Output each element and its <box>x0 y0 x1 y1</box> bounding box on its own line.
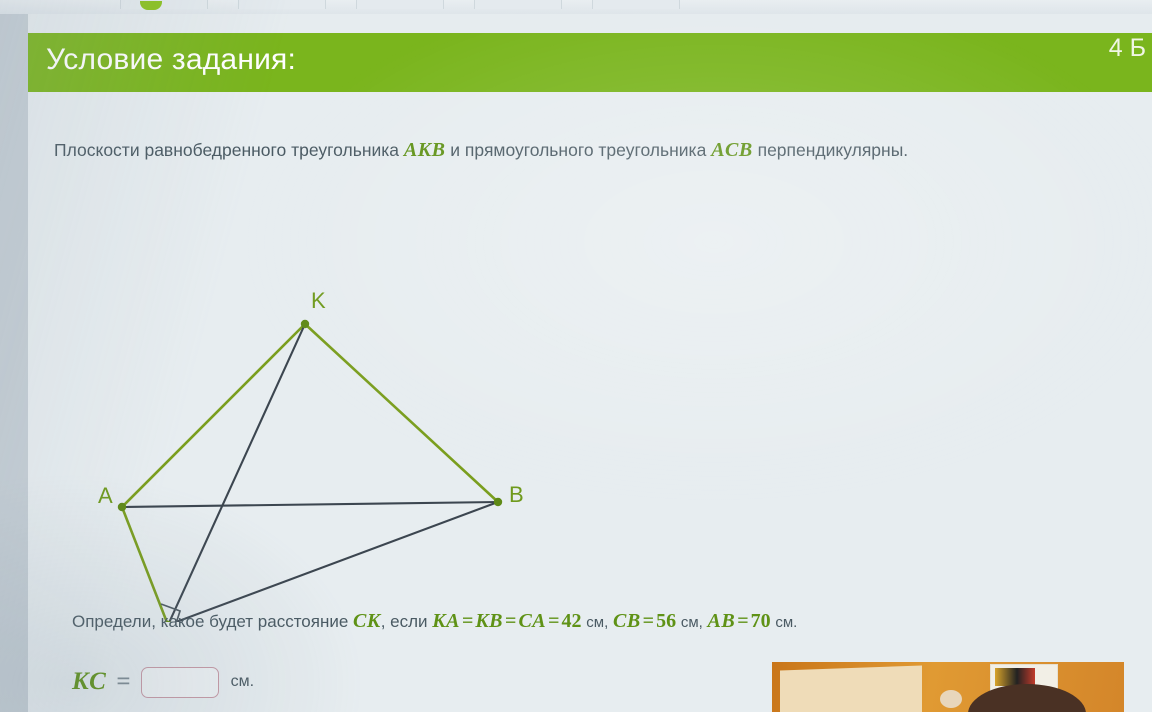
statement-text-part1: Плоскости равнобедренного треугольника <box>54 140 404 160</box>
browser-tab[interactable] <box>238 0 326 9</box>
value-42: 42 <box>562 610 582 632</box>
vertex-label-A: A <box>98 483 113 508</box>
equals-sign-3: = <box>546 610 561 632</box>
problem-statement: Плоскости равнобедренного треугольника A… <box>54 139 1144 162</box>
page-title: Условие задания: <box>46 43 296 77</box>
browser-tab[interactable] <box>474 0 562 9</box>
edge-K-B <box>305 324 498 502</box>
given-ka: KA <box>432 610 460 632</box>
vertex-B <box>494 498 502 506</box>
answer-input[interactable] <box>141 667 219 698</box>
question-part1: Определи, какое будет расстояние <box>72 612 353 631</box>
browser-tab[interactable] <box>356 0 444 9</box>
given-kb: KB <box>475 610 503 632</box>
unit-2: см, <box>681 614 703 631</box>
browser-tab[interactable] <box>592 0 680 9</box>
answer-equals-sign: = <box>106 668 140 696</box>
given-ab: AB <box>708 610 736 632</box>
value-56: 56 <box>656 610 676 632</box>
unit-3: см. <box>775 614 797 631</box>
photographed-screen: Условие задания: 4 Б Плоскости равнобедр… <box>0 0 1152 712</box>
statement-triangle-acb: ACB <box>711 139 753 161</box>
answer-row: KC = см. <box>72 662 254 702</box>
value-70: 70 <box>751 610 771 632</box>
edge-A-K <box>122 324 305 507</box>
given-cb: CB <box>613 610 641 632</box>
statement-text-part3: перпендикулярны. <box>753 140 908 160</box>
question-part2: , если <box>381 612 433 631</box>
equals-sign-5: = <box>735 610 750 632</box>
edge-C-B <box>168 502 498 622</box>
equals-sign-1: = <box>460 610 475 632</box>
unit-1: см, <box>586 614 608 631</box>
bottom-right-photo-panel[interactable] <box>772 662 1124 712</box>
task-banner: Условие задания: 4 Б <box>28 33 1152 92</box>
vertex-label-B: B <box>509 482 524 507</box>
page-left-margin <box>0 14 28 712</box>
vertex-K <box>301 320 309 328</box>
geometry-figure: K A B C <box>28 92 1152 622</box>
banner-corner-label: 4 Б <box>1109 34 1146 63</box>
equals-sign-2: = <box>503 610 518 632</box>
vertex-A <box>118 503 126 511</box>
vertex-label-K: K <box>311 288 326 313</box>
statement-text-part2: и прямоугольного треугольника <box>445 140 711 160</box>
browser-tab[interactable] <box>120 0 208 9</box>
statement-triangle-akb: AKB <box>404 139 446 161</box>
photo-paper-sheet <box>780 666 922 712</box>
answer-label-kc: KC <box>72 668 106 696</box>
exercise-body: Плоскости равнобедренного треугольника A… <box>28 92 1152 712</box>
given-ca: CA <box>518 610 546 632</box>
question-segment-ck: CK <box>353 610 381 632</box>
edge-A-B <box>122 502 498 507</box>
content-card: Условие задания: 4 Б Плоскости равнобедр… <box>28 14 1152 712</box>
photo-object <box>940 690 962 708</box>
equals-sign-4: = <box>641 610 656 632</box>
question-text: Определи, какое будет расстояние CK, есл… <box>72 610 797 633</box>
edge-A-C <box>122 507 168 622</box>
edge-K-C <box>168 324 305 622</box>
answer-unit: см. <box>219 673 254 691</box>
